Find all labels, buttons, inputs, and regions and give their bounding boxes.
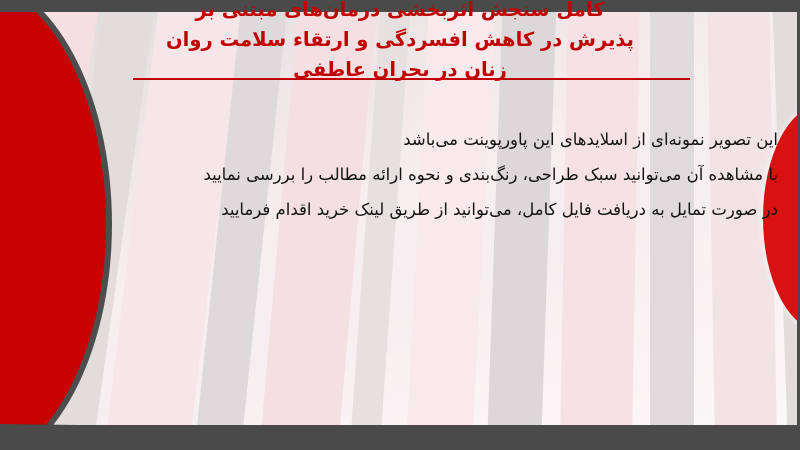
slide-title: کامل سنجش اثربخشی درمان‌های مبتنی بر پذی… bbox=[0, 0, 800, 85]
presentation-slide: کامل سنجش اثربخشی درمان‌های مبتنی بر پذی… bbox=[0, 0, 800, 450]
slide-frame-bottom bbox=[0, 424, 800, 450]
slide-title-line-1: کامل سنجش اثربخشی درمان‌های مبتنی بر bbox=[40, 0, 760, 25]
slide-body-line-1: این تصویر نمونه‌ای از اسلایدهای این پاور… bbox=[38, 122, 778, 157]
slide-body-line-2: با مشاهده آن می‌توانید سبک طراحی، رنگ‌بن… bbox=[38, 157, 778, 192]
slide-title-line-3: زنان در بحران عاطفی bbox=[40, 55, 760, 85]
title-divider-rule bbox=[133, 78, 690, 80]
slide-body-text: این تصویر نمونه‌ای از اسلایدهای این پاور… bbox=[38, 122, 778, 227]
slide-body-line-3: در صورت تمایل به دریافت فایل کامل، می‌تو… bbox=[38, 192, 778, 227]
slide-title-line-2: پذیرش در کاهش افسردگی و ارتقاء سلامت روا… bbox=[40, 25, 760, 55]
